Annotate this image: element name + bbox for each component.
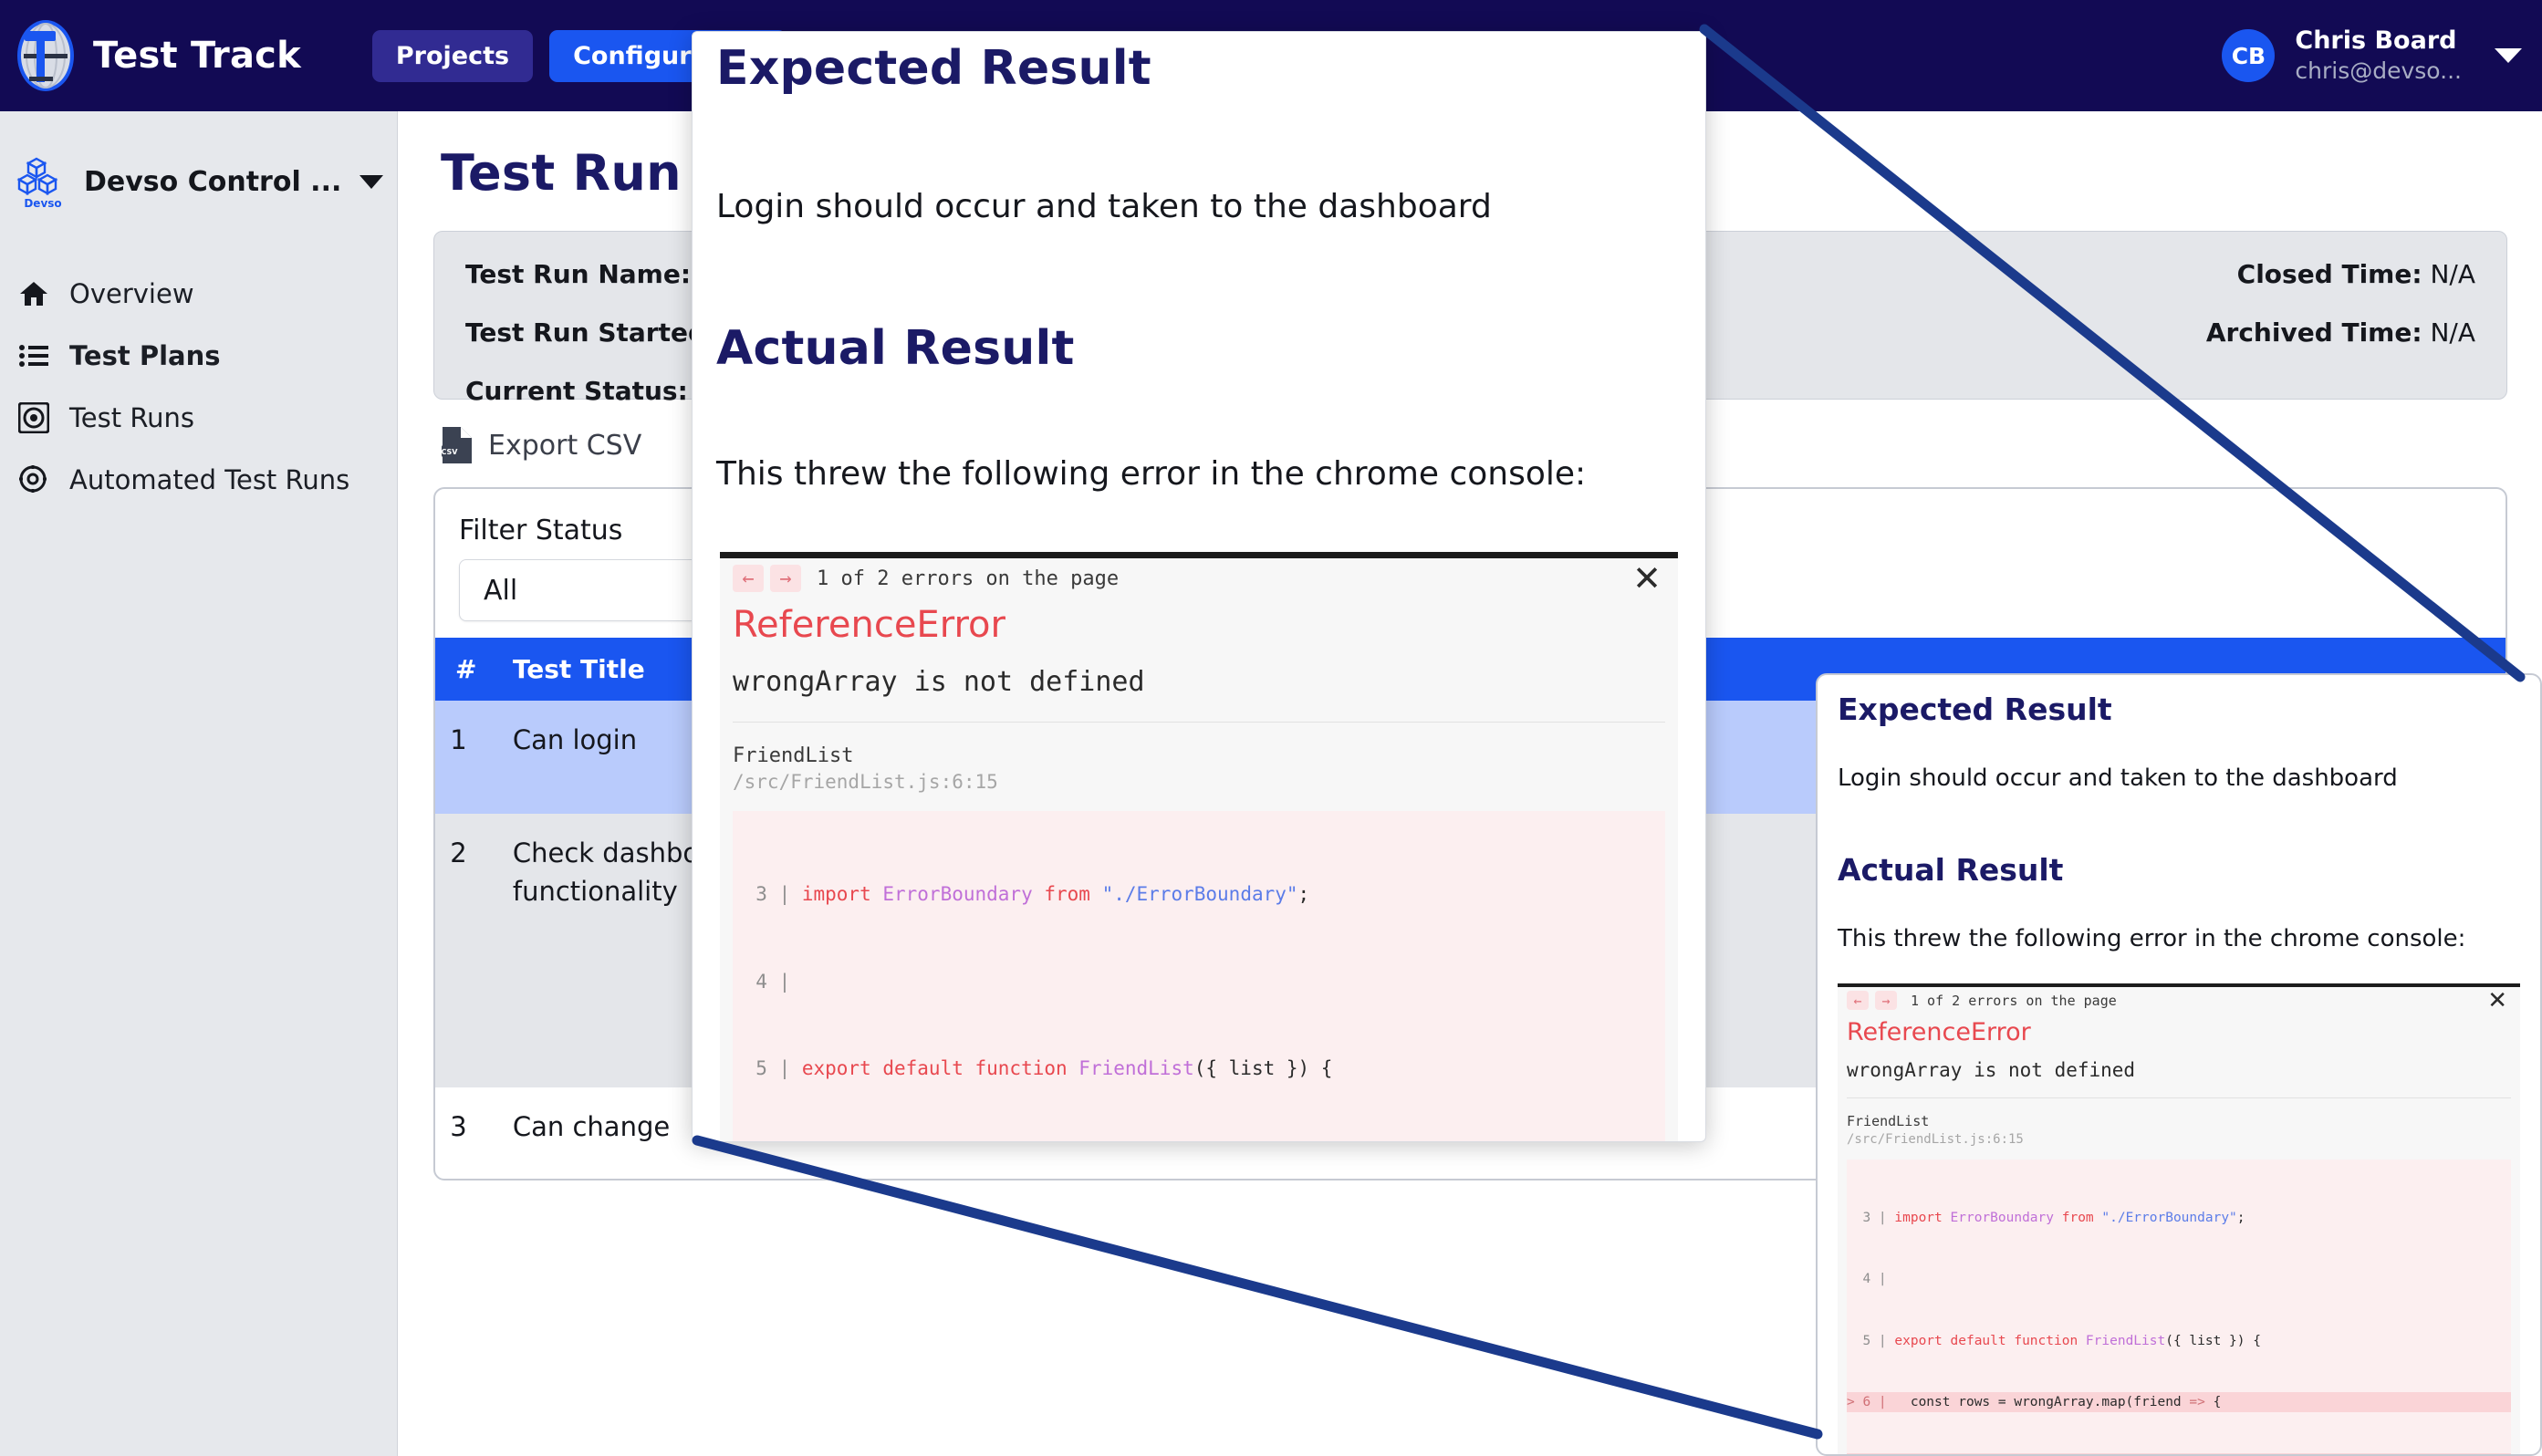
error-message: wrongArray is not defined <box>1838 1046 2520 1097</box>
row-number: 2 <box>435 814 496 1087</box>
test-track-logo-icon <box>13 18 78 93</box>
error-file-path: /src/FriendList.js:6:15 <box>720 767 1678 811</box>
spacer <box>716 96 1682 183</box>
sidebar-nav: Overview Test Plans <box>0 263 397 511</box>
cellpanel-expected-text: Login should occur and taken to the dash… <box>1838 762 2520 796</box>
sidebar: Devso Devso Control ... Overview <box>0 111 398 1456</box>
chevron-down-icon[interactable] <box>359 175 383 189</box>
sidebar-item-label: Test Runs <box>69 402 194 433</box>
spacer <box>1838 956 2520 983</box>
spacer <box>1838 888 2520 922</box>
info-label: Test Run Started <box>465 317 706 348</box>
target-icon <box>18 402 49 433</box>
close-icon[interactable]: ✕ <box>2487 987 2507 1014</box>
sidebar-item-overview[interactable]: Overview <box>0 263 397 325</box>
info-right-column: Closed Time: N/A Archived Time: N/A <box>2206 259 2475 348</box>
spacer <box>1838 727 2520 762</box>
code-line: 5 | export default function FriendList({… <box>733 1055 1665 1084</box>
error-type: ReferenceError <box>720 598 1678 646</box>
error-toolbar: ← → 1 of 2 errors on the page ✕ <box>1838 987 2520 1014</box>
row-number: 3 <box>435 1087 496 1166</box>
code-line: 3 | import ErrorBoundary from "./ErrorBo… <box>733 880 1665 910</box>
sidebar-item-automated-test-runs[interactable]: Automated Test Runs <box>0 449 397 511</box>
user-name: Chris Board <box>2295 26 2462 57</box>
modal-actual-heading: Actual Result <box>716 321 1682 376</box>
code-line: 4 | <box>1847 1269 2511 1289</box>
error-function-name: FriendList <box>720 723 1678 767</box>
project-selector[interactable]: Devso Devso Control ... <box>0 133 397 230</box>
chevron-down-icon[interactable] <box>2495 48 2522 63</box>
sidebar-item-test-plans[interactable]: Test Plans <box>0 325 397 387</box>
csv-file-icon: CSV <box>441 427 472 463</box>
svg-text:CSV: CSV <box>442 448 459 456</box>
spacer <box>1838 796 2520 836</box>
code-line: 5 | export default function FriendList({… <box>1847 1331 2511 1351</box>
avatar: CB <box>2222 29 2275 82</box>
next-error-icon[interactable]: → <box>770 565 801 592</box>
cellpanel-actual-text: This threw the following error in the ch… <box>1838 922 2520 956</box>
code-line: > 6 | const rows = wrongArray.map(friend… <box>1847 1392 2511 1412</box>
info-label: Current Status: <box>465 376 688 406</box>
project-name: Devso Control ... <box>84 166 341 198</box>
spacer <box>716 376 1682 451</box>
expanded-cell-panel: Expected Result Login should occur and t… <box>1816 673 2542 1456</box>
info-value: N/A <box>2430 259 2475 289</box>
modal-expected-heading: Expected Result <box>716 32 1682 96</box>
info-label: Archived Time: <box>2206 317 2422 348</box>
column-header-number[interactable]: # <box>435 638 496 701</box>
list-icon <box>18 340 49 371</box>
svg-text:Devso: Devso <box>24 197 61 210</box>
error-counter: 1 of 2 errors on the page <box>817 567 1119 590</box>
user-text: Chris Board chris@devso... <box>2295 26 2462 87</box>
error-screenshot-small: ← → 1 of 2 errors on the page ✕ Referenc… <box>1838 983 2520 1456</box>
code-line: 4 | <box>733 968 1665 997</box>
error-toolbar: ← → 1 of 2 errors on the page ✕ <box>720 558 1678 598</box>
info-label: Closed Time: <box>2237 259 2422 289</box>
app-root: Test Track Projects Configuration CB Chr… <box>0 0 2542 1456</box>
cellpanel-actual-heading: Actual Result <box>1838 836 2520 888</box>
spacer <box>716 230 1682 321</box>
sidebar-item-label: Test Plans <box>69 340 221 371</box>
error-function-name: FriendList <box>1838 1098 2520 1129</box>
expanded-result-modal: Expected Result Login should occur and t… <box>692 31 1706 1142</box>
code-line: 3 | import ErrorBoundary from "./ErrorBo… <box>1847 1208 2511 1228</box>
export-csv-label: Export CSV <box>488 430 641 462</box>
home-icon <box>18 278 49 309</box>
error-code-block: 3 | import ErrorBoundary from "./ErrorBo… <box>1847 1160 2511 1456</box>
error-file-path: /src/FriendList.js:6:15 <box>1838 1129 2520 1160</box>
brand[interactable]: Test Track <box>0 18 301 93</box>
row-number: 1 <box>435 701 496 814</box>
error-code-block: 3 | import ErrorBoundary from "./ErrorBo… <box>733 811 1665 1142</box>
modal-actual-text: This threw the following error in the ch… <box>716 451 1682 497</box>
error-counter: 1 of 2 errors on the page <box>1911 993 2117 1009</box>
user-menu[interactable]: CB Chris Board chris@devso... <box>2222 0 2522 111</box>
sidebar-item-label: Automated Test Runs <box>69 464 349 495</box>
info-closed-time: Closed Time: N/A <box>2206 259 2475 289</box>
nav-button-projects[interactable]: Projects <box>372 30 533 82</box>
devso-logo-icon: Devso <box>15 153 71 210</box>
info-label: Test Run Name: <box>465 259 691 289</box>
prev-error-icon[interactable]: ← <box>733 565 764 592</box>
error-message: wrongArray is not defined <box>720 646 1678 722</box>
spacer <box>716 497 1682 552</box>
prev-error-icon[interactable]: ← <box>1847 991 1869 1010</box>
sidebar-item-label: Overview <box>69 278 194 309</box>
close-icon[interactable]: ✕ <box>1632 558 1662 598</box>
next-error-icon[interactable]: → <box>1875 991 1897 1010</box>
gear-icon <box>18 464 49 495</box>
error-screenshot-large: ← → 1 of 2 errors on the page ✕ Referenc… <box>720 552 1678 1142</box>
modal-expected-text: Login should occur and taken to the dash… <box>716 183 1682 230</box>
user-email: chris@devso... <box>2295 57 2462 86</box>
info-value: N/A <box>2430 317 2475 348</box>
error-type: ReferenceError <box>1838 1014 2520 1046</box>
info-archived-time: Archived Time: N/A <box>2206 317 2475 348</box>
export-csv-button[interactable]: CSV Export CSV <box>441 427 641 463</box>
cellpanel-expected-heading: Expected Result <box>1838 675 2520 727</box>
brand-name: Test Track <box>93 35 301 77</box>
sidebar-item-test-runs[interactable]: Test Runs <box>0 387 397 449</box>
